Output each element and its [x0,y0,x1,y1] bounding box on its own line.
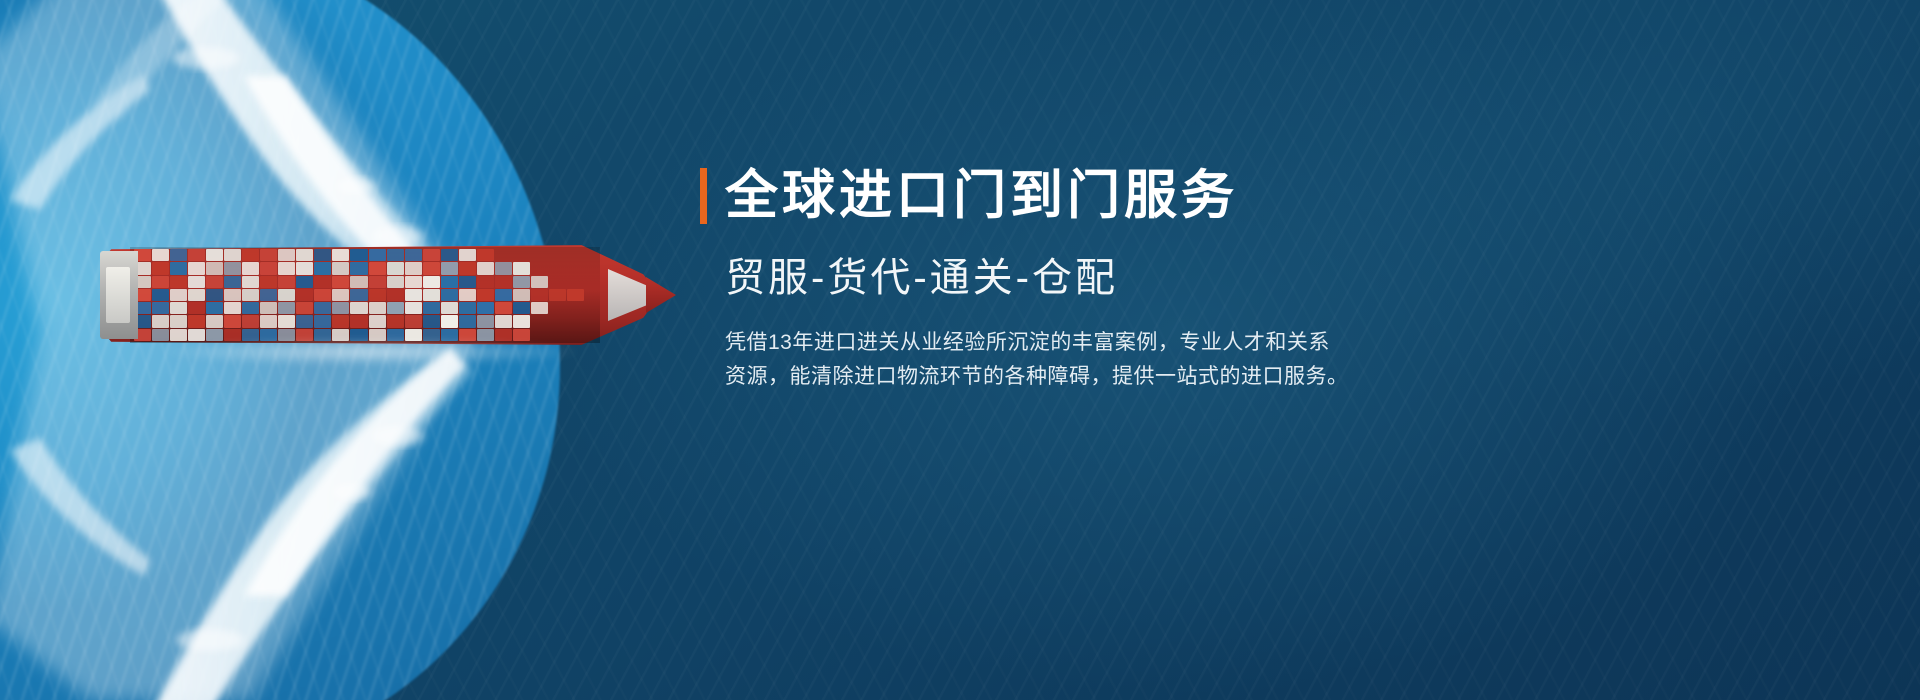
ship-bridge [106,267,130,323]
headline-row: 全球进口门到门服务 [700,168,1460,224]
ship-superstructure [100,251,138,339]
description-line-1: 凭借13年进口进关从业经验所沉淀的丰富案例，专业人才和关系 [725,326,1420,360]
page-title: 全球进口门到门服务 [725,168,1238,224]
container-ship [100,243,660,347]
description-line-2: 资源，能清除进口物流环节的各种障碍，提供一站式的进口服务。 [725,360,1420,394]
banner-content: 全球进口门到门服务 贸服-货代-通关-仓配 凭借13年进口进关从业经验所沉淀的丰… [700,168,1460,394]
hero-banner: 全球进口门到门服务 贸服-货代-通关-仓配 凭借13年进口进关从业经验所沉淀的丰… [0,0,1920,700]
ship-wash [160,339,580,365]
banner-description: 凭借13年进口进关从业经验所沉淀的丰富案例，专业人才和关系 资源，能清除进口物流… [700,326,1420,394]
accent-bar [700,168,707,224]
banner-subtitle: 贸服-货代-通关-仓配 [700,256,1460,300]
cargo-containers [134,249,602,341]
